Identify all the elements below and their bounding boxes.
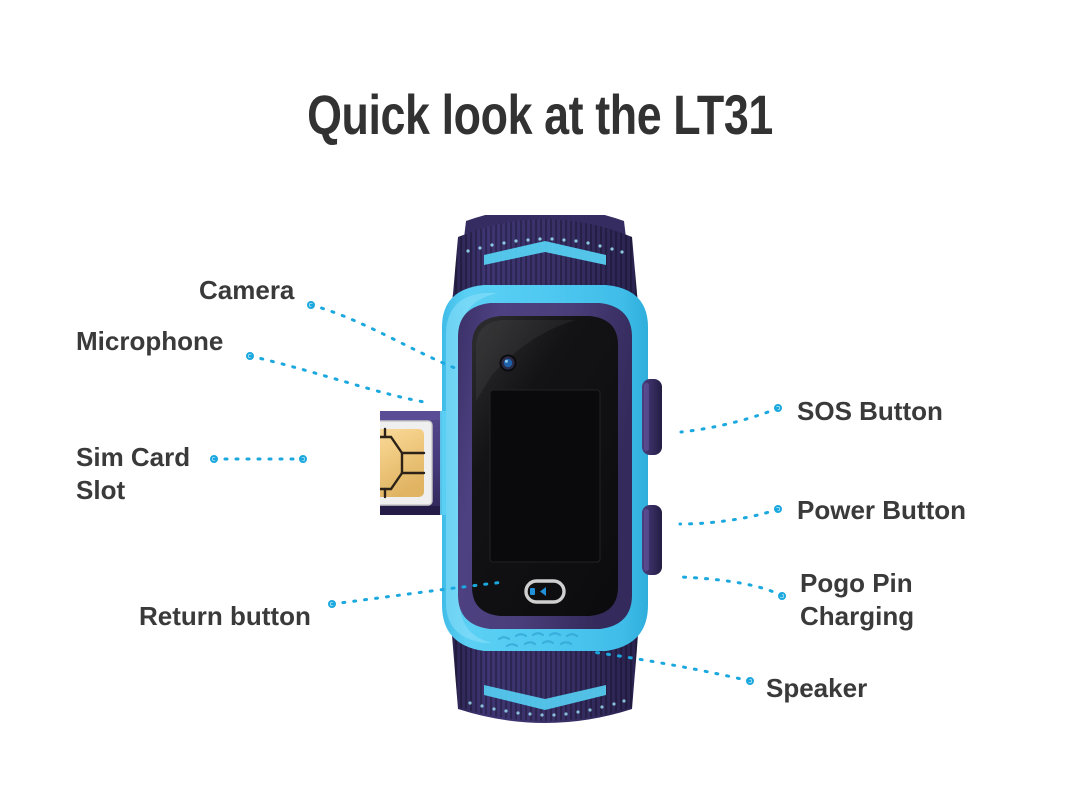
callout-camera: Camera xyxy=(199,274,294,307)
callout-sos-button: SOS Button xyxy=(797,395,943,428)
camera-icon xyxy=(500,355,517,372)
sos-side-button[interactable] xyxy=(642,379,662,455)
callout-pogo-pin: Pogo Pin Charging xyxy=(800,567,914,634)
power-side-button[interactable] xyxy=(642,505,662,575)
sim-chip-icon xyxy=(380,429,424,497)
callout-sim-card-slot: Sim Card Slot xyxy=(76,441,190,508)
infographic-canvas: Quick look at the LT31 xyxy=(0,0,1080,806)
callout-power-button: Power Button xyxy=(797,494,966,527)
callout-speaker: Speaker xyxy=(766,672,867,705)
callout-return-button: Return button xyxy=(139,600,311,633)
sim-card-tray[interactable] xyxy=(380,401,442,525)
callout-microphone: Microphone xyxy=(76,325,223,358)
watch-screen[interactable] xyxy=(490,390,600,562)
smartwatch-illustration xyxy=(380,215,710,725)
page-title: Quick look at the LT31 xyxy=(108,82,972,147)
